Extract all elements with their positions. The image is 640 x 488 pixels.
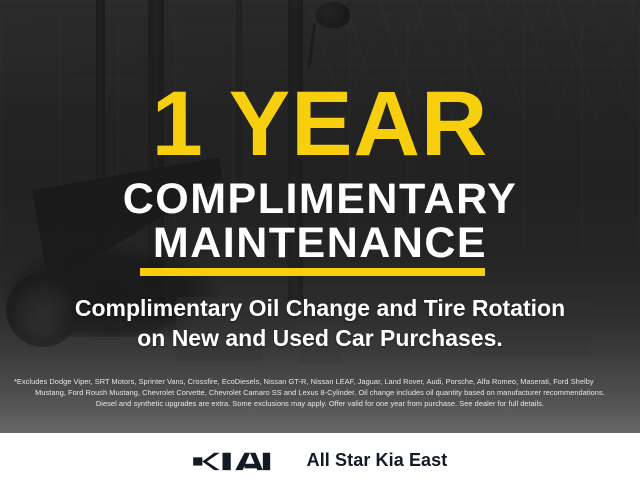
- yellow-divider-bar: [140, 268, 485, 276]
- kia-logo: [193, 450, 285, 472]
- footer-bar: All Star Kia East: [0, 433, 640, 488]
- disclaimer-line-2: Mustang, Ford Roush Mustang, Chevrolet C…: [14, 387, 626, 398]
- headline-one-year: 1 YEAR: [0, 78, 640, 170]
- dealer-name: All Star Kia East: [307, 450, 448, 471]
- disclaimer-line-1: *Excludes Dodge Viper, SRT Motors, Sprin…: [14, 376, 626, 387]
- kia-logo-icon: [193, 450, 285, 472]
- disclaimer-line-3: Diesel and synthetic upgrades are extra.…: [14, 398, 626, 409]
- offer-text-line-2: on New and Used Car Purchases.: [0, 324, 640, 352]
- banner-content: 1 YEAR COMPLIMENTARY MAINTENANCE Complim…: [0, 0, 640, 488]
- offer-text-line-1: Complimentary Oil Change and Tire Rotati…: [0, 294, 640, 322]
- promo-banner: 1 YEAR COMPLIMENTARY MAINTENANCE Complim…: [0, 0, 640, 488]
- disclaimer-block: *Excludes Dodge Viper, SRT Motors, Sprin…: [14, 376, 626, 409]
- headline-maintenance: MAINTENANCE: [0, 222, 640, 265]
- headline-complimentary: COMPLIMENTARY: [0, 178, 640, 221]
